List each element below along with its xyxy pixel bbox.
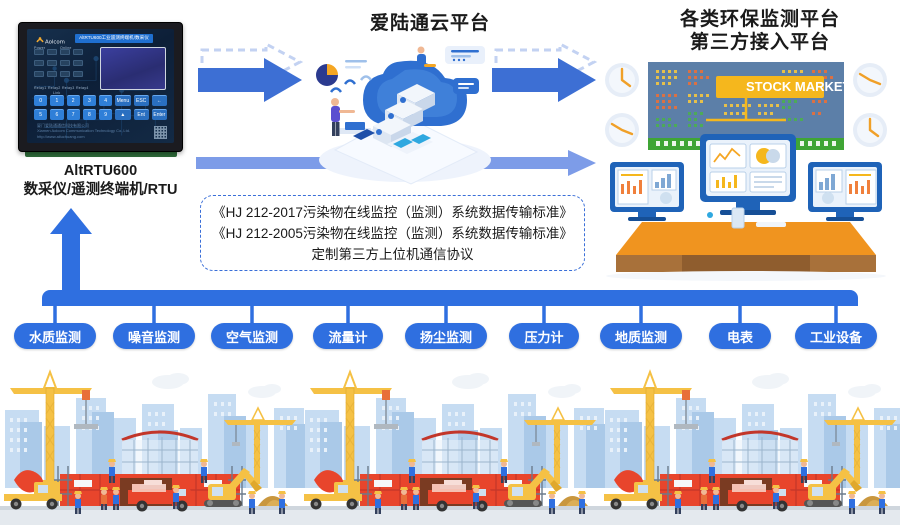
sensor-pill-water[interactable]: 水质监测 [14,323,96,349]
key-ent[interactable]: Ent [134,109,149,120]
device-company-info: 厦门爱陆通通信科技有限公司 Xiamen Aolcom Communicatio… [37,123,130,140]
keypad-row-1: 0 1 2 3 4 Menu ESC ← [34,95,167,106]
qr-code-icon [154,126,167,139]
status-label-relay4: Relay4 [76,86,88,90]
sensor-pill-geological[interactable]: 地质监测 [600,323,682,349]
key-4[interactable]: 4 [99,95,112,106]
key-esc[interactable]: ESC [134,95,149,106]
key-up[interactable]: ▲ [115,109,130,120]
device-body: Aolcom AltRTU600工业遥测终端机/数采仪 Power Online… [18,22,183,152]
stock-market-label: STOCK MARKET [746,79,851,94]
status-label-relay1: Relay1 [34,86,46,90]
sensor-pill-flowmeter[interactable]: 流量计 [313,323,383,349]
protocol-line-2: 《HJ 212-2005污染物在线监控（监测）系统数据传输标准》 [212,224,573,243]
sensor-pill-noise[interactable]: 噪音监测 [113,323,195,349]
key-8[interactable]: 8 [83,109,96,120]
key-2[interactable]: 2 [67,95,80,106]
construction-site-illustration [0,368,900,525]
monitoring-platform-title-line1: 各类环保监测平台 [620,8,900,31]
protocol-standards-box: 《HJ 212-2017污染物在线监控（监测）系统数据传输标准》 《HJ 212… [200,195,585,271]
key-6[interactable]: 6 [50,109,63,120]
sensor-pill-pressure[interactable]: 压力计 [509,323,579,349]
key-3[interactable]: 3 [83,95,96,106]
key-1[interactable]: 1 [50,95,63,106]
device-model-banner-text: AltRTU600工业遥测终端机/数采仪 [78,34,150,42]
device-model-banner: AltRTU600工业遥测终端机/数采仪 [75,34,153,43]
sensor-pill-industrial[interactable]: 工业设备 [795,323,877,349]
status-label-relay3: Relay3 [62,86,74,90]
company-logo: Aolcom [34,33,66,44]
key-9[interactable]: 9 [99,109,112,120]
device-front-panel: Aolcom AltRTU600工业遥测终端机/数采仪 Power Online… [27,29,174,143]
sensor-pill-meter[interactable]: 电表 [709,323,771,349]
device-type-label: 数采仪/遥测终端机/RTU [18,181,183,200]
key-enter[interactable]: Enter [152,109,167,120]
company-website: http://www.ailuchuang.com [37,134,130,140]
monitoring-platform-title: 各类环保监测平台 第三方接入平台 [620,8,900,54]
status-label-relay2: Relay2 [48,86,60,90]
protocol-line-1: 《HJ 212-2017污染物在线监控（监测）系统数据传输标准》 [212,203,573,222]
key-5[interactable]: 5 [34,109,47,120]
sensor-pill-dust[interactable]: 扬尘监测 [405,323,487,349]
cloud-platform-title: 爱陆通云平台 [300,12,560,35]
device-keypad: 0 1 2 3 4 Menu ESC ← 5 6 7 8 9 [34,95,167,123]
flow-arrow-cloud-to-platform [490,42,602,104]
key-backspace[interactable]: ← [152,95,167,106]
key-menu[interactable]: Menu [115,95,130,106]
uplink-arrow [48,208,94,294]
flow-arrow-device-to-cloud [196,42,308,104]
keypad-row-2: 5 6 7 8 9 ▲ Ent Enter [34,109,167,120]
device-model-label: AltRTU600 [18,162,183,181]
company-name-en: Xiamen Aolcom Communication Technology C… [37,128,130,134]
monitoring-platform-illustration: STOCK MARKET [596,50,896,282]
device-indicator-grid [34,49,86,82]
device-lcd-screen [100,47,166,90]
cloud-platform-illustration [305,40,495,185]
key-7[interactable]: 7 [67,109,80,120]
device-caption: AltRTU600 数采仪/遥测终端机/RTU [18,162,183,200]
device-terminal-strip [25,152,177,157]
sensor-pill-air[interactable]: 空气监测 [211,323,293,349]
svg-text:Aolcom: Aolcom [45,39,65,45]
diagram-canvas: 爱陆通云平台 各类环保监测平台 第三方接入平台 [0,0,900,525]
key-0[interactable]: 0 [34,95,47,106]
rtu-device: Aolcom AltRTU600工业遥测终端机/数采仪 Power Online… [18,22,183,200]
protocol-line-3: 定制第三方上位机通信协议 [312,245,474,264]
